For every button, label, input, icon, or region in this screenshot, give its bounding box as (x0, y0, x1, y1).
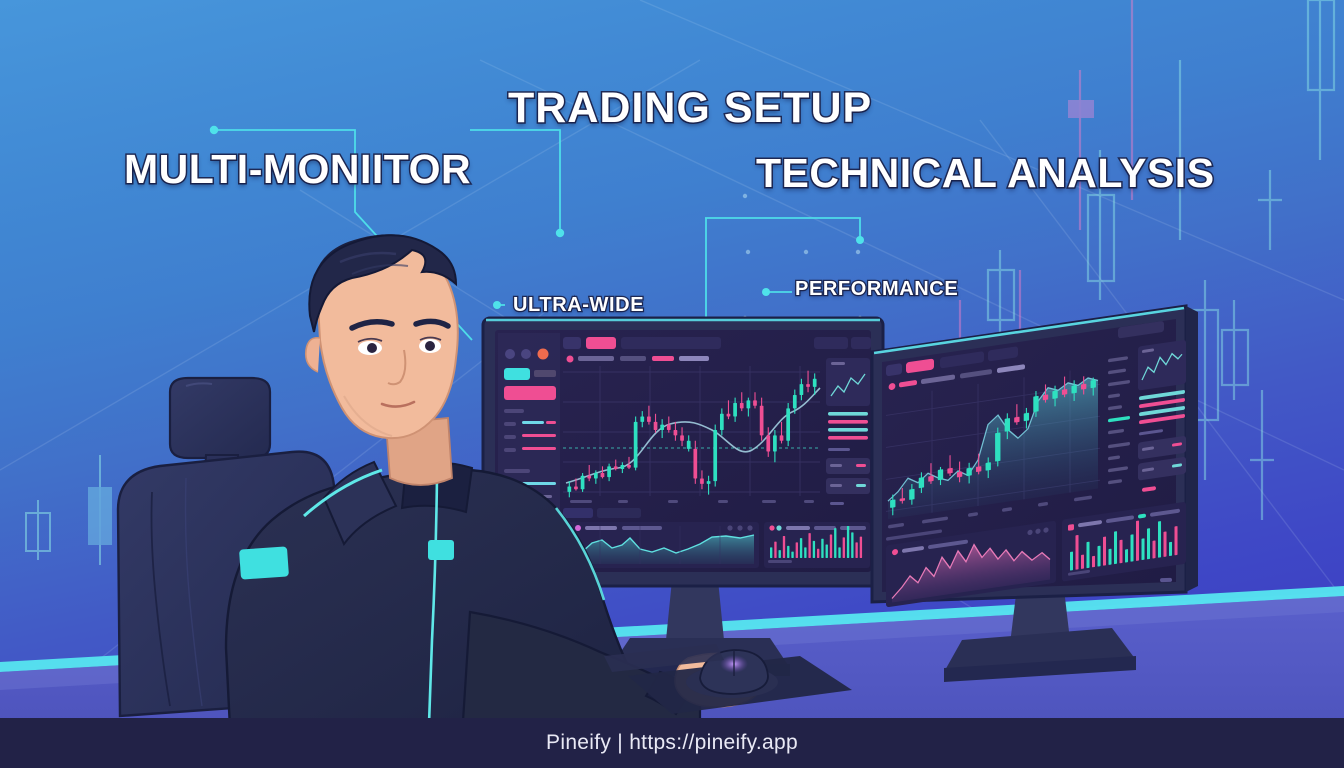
heading-left: MULTI-MONIITOR (124, 146, 471, 193)
footer-brand-url: Pineify | https://pineify.app (546, 731, 798, 755)
page-title: TRADING SETUP (508, 84, 872, 133)
heading-right: TECHNICAL ANALYSIS (756, 150, 1215, 197)
footer-bar: Pineify | https://pineify.app (0, 718, 1344, 768)
poster-canvas: TRADING SETUP MULTI-MONIITOR TECHNICAL A… (0, 0, 1344, 768)
callout-ultra-wide: ULTRA-WIDE (513, 294, 644, 317)
callout-performance: PERFORMANCE (795, 278, 958, 301)
